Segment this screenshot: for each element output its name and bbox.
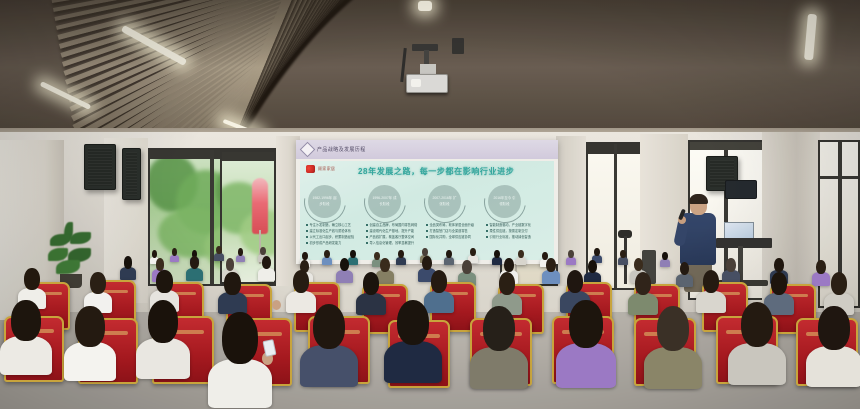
attendee-shoulders xyxy=(566,257,576,265)
attendee-head xyxy=(172,248,177,256)
attendee-shoulders xyxy=(470,347,528,390)
attendee-head xyxy=(594,248,600,256)
audience-member xyxy=(618,250,628,264)
attendee-head xyxy=(350,250,356,258)
wall-speaker-left-narrow xyxy=(122,148,141,200)
audience-member xyxy=(322,250,332,264)
bullet-dot-icon xyxy=(366,242,368,244)
bullet-text: 打造智慧门店与全渠道零售 xyxy=(430,229,468,233)
bullet-text: 以代工出口起步，积累制造经验 xyxy=(310,235,355,239)
conference-room-photo: 产品战略及发展历程 顾家家居 28年发展之路，每一步都在影响行业进步 1982-… xyxy=(0,0,860,409)
slide-brand: 顾家家居 xyxy=(306,165,335,173)
slide-header-bar: 产品战略及发展历程 xyxy=(296,140,558,159)
bullet-text: 国际化并购，全球供应链协同 xyxy=(430,235,471,239)
bullet-column-1: 专注沙发制造，确立核心工艺建立标准化生产线与质检体系以代工出口起步，积累制造经验… xyxy=(306,222,362,246)
attendee-head xyxy=(567,270,584,293)
attendee-head xyxy=(152,250,157,258)
attendee-head xyxy=(397,300,429,345)
attendee-shoulders xyxy=(64,342,116,381)
attendee-head xyxy=(75,306,104,347)
wall-speaker-left xyxy=(84,144,116,190)
slide-header-text: 产品战略及发展历程 xyxy=(317,146,366,153)
bullet-text: 创建自主品牌，布局国内零售网络 xyxy=(370,223,418,227)
attendee-hand xyxy=(272,300,281,310)
stage-circle-4: 2016年至今 引领阶段 xyxy=(488,185,521,218)
speaker-grill xyxy=(126,152,137,196)
attendee-shoulders xyxy=(322,257,332,265)
audience-member xyxy=(186,256,203,279)
audience-member xyxy=(644,306,702,384)
tube-light-3 xyxy=(418,1,432,11)
audience-member xyxy=(566,250,576,264)
attendee-head xyxy=(398,250,404,258)
speaker-grill xyxy=(88,148,112,186)
audience-member xyxy=(170,248,179,261)
attendee-shoulders xyxy=(136,338,190,379)
bullet-text: 全品类布局，软体家居全面升级 xyxy=(430,223,475,227)
ceiling-projector xyxy=(406,74,448,93)
attendee-head xyxy=(124,256,133,269)
attendee-shoulders xyxy=(542,270,560,283)
attendee-head xyxy=(504,258,514,272)
attendee-head xyxy=(324,250,330,258)
bullet-line: 初步形成产品研发能力 xyxy=(306,240,362,246)
slide-canvas: 顾家家居 28年发展之路，每一步都在影响行业进步 1982-1996年 起步阶段… xyxy=(300,161,554,260)
audience-member xyxy=(356,272,386,312)
attendee-shoulders xyxy=(120,267,136,279)
attendee-head xyxy=(302,252,308,260)
attendee-head xyxy=(546,258,556,272)
bullet-dot-icon xyxy=(426,230,428,232)
audience-member xyxy=(676,262,693,285)
bullet-text: 初步形成产品研发能力 xyxy=(310,241,342,245)
audience-member xyxy=(336,258,353,281)
attendee-head xyxy=(222,312,258,364)
bullet-text: 专注沙发制造，确立核心工艺 xyxy=(310,223,351,227)
attendee-head xyxy=(499,272,516,295)
audience-member xyxy=(120,256,136,278)
attendee-head xyxy=(148,300,178,343)
attendee-head xyxy=(462,260,472,274)
attendee-head xyxy=(771,272,788,295)
brand-logo-icon xyxy=(306,165,315,173)
bullet-dot-icon xyxy=(306,224,308,226)
attendee-head xyxy=(662,252,668,260)
presenter-hair xyxy=(689,194,708,204)
attendee-shoulders xyxy=(806,346,860,388)
stage-circle-1: 1982-1996年 起步阶段 xyxy=(308,185,341,218)
bullet-dot-icon xyxy=(366,224,368,226)
podium-table xyxy=(716,238,772,248)
attendee-head xyxy=(422,248,428,256)
attendee-head xyxy=(518,250,524,258)
audience-member xyxy=(542,258,560,282)
audience-member xyxy=(300,304,358,382)
audience-member xyxy=(660,252,670,266)
stage-circle-row: 1982-1996年 起步阶段 1996-2007年 成长阶段 2007-201… xyxy=(306,183,550,219)
attendee-head xyxy=(483,306,515,351)
projector-lens xyxy=(411,79,421,87)
attendee-shoulders xyxy=(618,257,628,265)
attendee-head xyxy=(260,247,266,255)
attendee-head xyxy=(156,258,165,271)
audience-member xyxy=(64,306,116,376)
bullet-dot-icon xyxy=(486,236,488,238)
bullet-column-4: 智能制造驱动，产业链数字化柔性供应链，按需定制交付引领行业标准，推动绿色智造 xyxy=(486,222,542,246)
attendee-head xyxy=(635,272,652,295)
audience-member xyxy=(444,250,454,264)
attendee-head xyxy=(363,272,380,295)
attendee-head xyxy=(90,272,106,294)
attendee-shoulders xyxy=(444,257,454,265)
attendee-shoulders xyxy=(170,255,179,262)
wall-display-panel xyxy=(725,180,757,199)
bullet-dot-icon xyxy=(306,236,308,238)
diamond-icon xyxy=(300,142,316,158)
bullet-dot-icon xyxy=(426,236,428,238)
bullet-dot-icon xyxy=(486,224,488,226)
attendee-head xyxy=(293,270,310,293)
audience-member xyxy=(0,300,52,370)
bullet-text: 智能制造驱动，产业链数字化 xyxy=(490,223,531,227)
bullet-dot-icon xyxy=(426,224,428,226)
attendee-head xyxy=(568,250,574,258)
attendee-head xyxy=(569,300,603,348)
audience-member xyxy=(384,300,442,378)
attendee-shoulders xyxy=(336,270,353,283)
audience-member xyxy=(806,306,860,382)
attendee-shoulders xyxy=(396,257,406,265)
attendee-head xyxy=(224,272,240,295)
bullet-text: 产品线扩展，覆盖客厅整体空间 xyxy=(370,235,415,239)
stage-circle-2: 1996-2007年 成长阶段 xyxy=(368,185,401,218)
bullet-dot-icon xyxy=(306,230,308,232)
attendee-head xyxy=(11,300,40,341)
audience-member xyxy=(556,300,616,382)
attendee-head xyxy=(156,270,172,293)
stage-circle-3: 2007-2016年 扩张阶段 xyxy=(428,185,461,218)
attendee-shoulders xyxy=(356,293,386,315)
attendee-head xyxy=(24,268,40,290)
ceiling-junction-box xyxy=(452,38,464,54)
audience-member xyxy=(696,270,726,310)
bullet-line: 引领行业标准，推动绿色智造 xyxy=(486,234,542,240)
audience-member xyxy=(728,302,786,380)
attendee-head xyxy=(431,270,448,293)
attendee-head xyxy=(226,258,235,271)
slide-title: 28年发展之路，每一步都在影响行业进步 xyxy=(358,166,514,177)
bullet-text: 柔性供应链，按需定制交付 xyxy=(490,229,528,233)
attendee-shoulders xyxy=(0,336,52,375)
attendee-head xyxy=(726,258,736,272)
attendee-head xyxy=(494,250,500,258)
attendee-shoulders xyxy=(300,345,358,388)
attendee-shoulders xyxy=(208,359,272,409)
slide-bullet-columns: 专注沙发制造，确立核心工艺建立标准化生产线与质检体系以代工出口起步，积累制造经验… xyxy=(306,222,550,246)
attendee-head xyxy=(446,250,452,258)
attendee-head xyxy=(238,248,243,256)
attendee-head xyxy=(620,250,626,258)
projection-screen: 产品战略及发展历程 顾家家居 28年发展之路，每一步都在影响行业进步 1982-… xyxy=(296,140,558,264)
bullet-dot-icon xyxy=(366,236,368,238)
bullet-text: 建设现代化生产基地，提升产能 xyxy=(370,229,415,233)
attendee-shoulders xyxy=(258,268,275,281)
attendee-head xyxy=(657,306,689,351)
attendee-head xyxy=(703,270,720,293)
bullet-dot-icon xyxy=(306,242,308,244)
attendee-shoulders xyxy=(644,347,702,390)
audience-member xyxy=(84,272,112,310)
attendee-head xyxy=(380,258,390,272)
attendee-head xyxy=(831,272,848,295)
attendee-head xyxy=(470,248,476,256)
bullet-line: 导入信息化管理，效率显著提升 xyxy=(366,240,422,246)
bullet-text: 引领行业标准，推动绿色智造 xyxy=(490,235,531,239)
bullet-line: 国际化并购，全球供应链协同 xyxy=(426,234,482,240)
bullet-dot-icon xyxy=(366,230,368,232)
attendee-shoulders xyxy=(556,343,616,388)
attendee-head xyxy=(818,306,849,350)
attendee-shoulders xyxy=(660,259,670,267)
audience-member xyxy=(470,306,528,384)
attendee-head xyxy=(741,302,773,347)
bullet-text: 建立标准化生产线与质检体系 xyxy=(310,229,351,233)
audience-member xyxy=(218,272,247,311)
attendee-head xyxy=(216,246,222,254)
attendee-head xyxy=(774,258,784,272)
brand-name: 顾家家居 xyxy=(318,166,335,172)
attendee-shoulders xyxy=(728,343,786,386)
audience-member xyxy=(396,250,406,264)
audience-member xyxy=(136,300,190,374)
attendee-shoulders xyxy=(384,341,442,384)
audience-member xyxy=(258,256,275,279)
bullet-dot-icon xyxy=(486,230,488,232)
attendee-head xyxy=(422,256,432,270)
bullet-text: 导入信息化管理，效率显著提升 xyxy=(370,241,415,245)
bullet-column-3: 全品类布局，软体家居全面升级打造智慧门店与全渠道零售国际化并购，全球供应链协同 xyxy=(426,222,482,246)
audience-member xyxy=(458,260,476,284)
attendee-head xyxy=(313,304,345,349)
attendee-shoulders xyxy=(218,292,247,313)
attendee-shoulders xyxy=(186,268,203,281)
bullet-column-2: 创建自主品牌，布局国内零售网络建设现代化生产基地，提升产能产品线扩展，覆盖客厅整… xyxy=(366,222,422,246)
